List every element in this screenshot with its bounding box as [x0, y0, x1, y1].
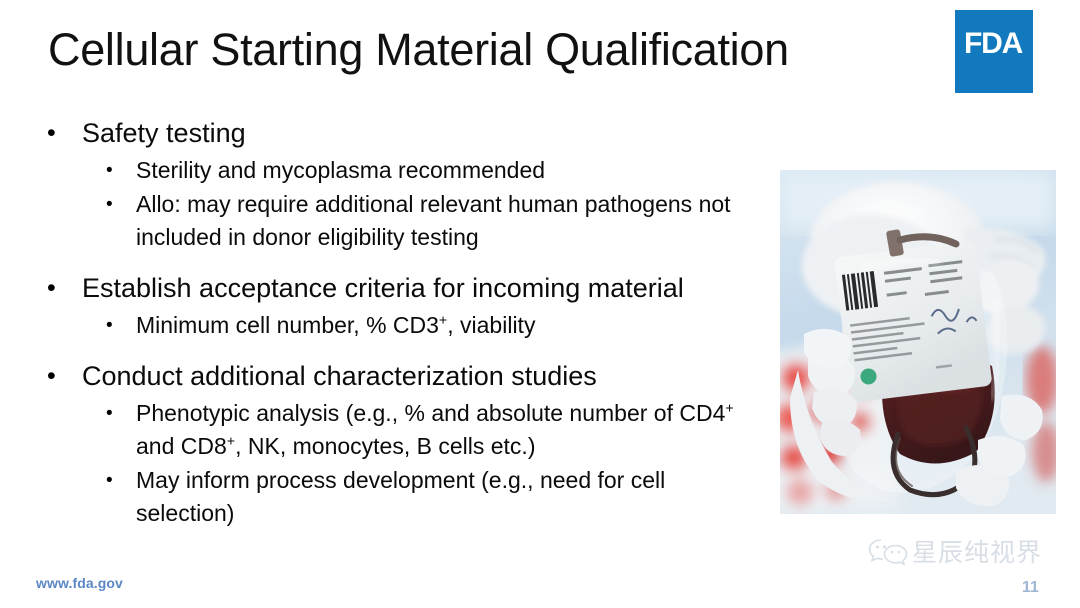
superscript-marker: +: [725, 400, 733, 416]
bullet-level1: •Safety testing: [40, 114, 770, 152]
bullet-level2: •Minimum cell number, % CD3+, viability: [40, 309, 770, 342]
fda-logo-text: FDA: [964, 29, 1022, 59]
bullet-level2-text: Allo: may require additional relevant hu…: [136, 188, 756, 254]
footer-url[interactable]: www.fda.gov: [36, 575, 123, 591]
bullet-level2: •Allo: may require additional relevant h…: [40, 188, 770, 254]
bullet-level1-text: Safety testing: [82, 114, 246, 152]
sub-bullet-dot-icon: •: [40, 464, 136, 497]
watermark: 星辰纯视界: [868, 536, 1042, 568]
bullet-group-spacer: [40, 343, 770, 357]
page-number: 11: [1022, 579, 1039, 597]
bullet-level1-text: Conduct additional characterization stud…: [82, 357, 597, 395]
bullet-dot-icon: •: [40, 269, 82, 307]
bullet-level2-text: May inform process development (e.g., ne…: [136, 464, 756, 530]
watermark-text: 星辰纯视界: [912, 540, 1042, 565]
bullet-level2: •Phenotypic analysis (e.g., % and absolu…: [40, 397, 770, 463]
sub-bullet-dot-icon: •: [40, 154, 136, 187]
sub-bullet-dot-icon: •: [40, 397, 136, 430]
sub-bullet-dot-icon: •: [40, 188, 136, 221]
bullet-level1-text: Establish acceptance criteria for incomi…: [82, 269, 684, 307]
bullet-level2-text: Sterility and mycoplasma recommended: [136, 154, 545, 187]
wechat-icon: [868, 536, 910, 568]
sub-bullet-dot-icon: •: [40, 309, 136, 342]
slide-body: •Safety testing•Sterility and mycoplasma…: [40, 114, 770, 531]
bullet-level2: •May inform process development (e.g., n…: [40, 464, 770, 530]
fda-logo: FDA: [955, 10, 1033, 93]
bullet-level2: •Sterility and mycoplasma recommended: [40, 154, 770, 187]
bullet-level1: •Conduct additional characterization stu…: [40, 357, 770, 395]
superscript-marker: +: [227, 433, 235, 449]
superscript-marker: +: [439, 312, 447, 328]
bullet-group-spacer: [40, 255, 770, 269]
bullet-level1: •Establish acceptance criteria for incom…: [40, 269, 770, 307]
bullet-level2-text: Phenotypic analysis (e.g., % and absolut…: [136, 397, 756, 463]
bullet-level2-text: Minimum cell number, % CD3+, viability: [136, 309, 535, 342]
blood-collection-bag-photo: [780, 170, 1056, 514]
bullet-dot-icon: •: [40, 114, 82, 152]
bullet-dot-icon: •: [40, 357, 82, 395]
page-title: Cellular Starting Material Qualification: [48, 26, 908, 73]
